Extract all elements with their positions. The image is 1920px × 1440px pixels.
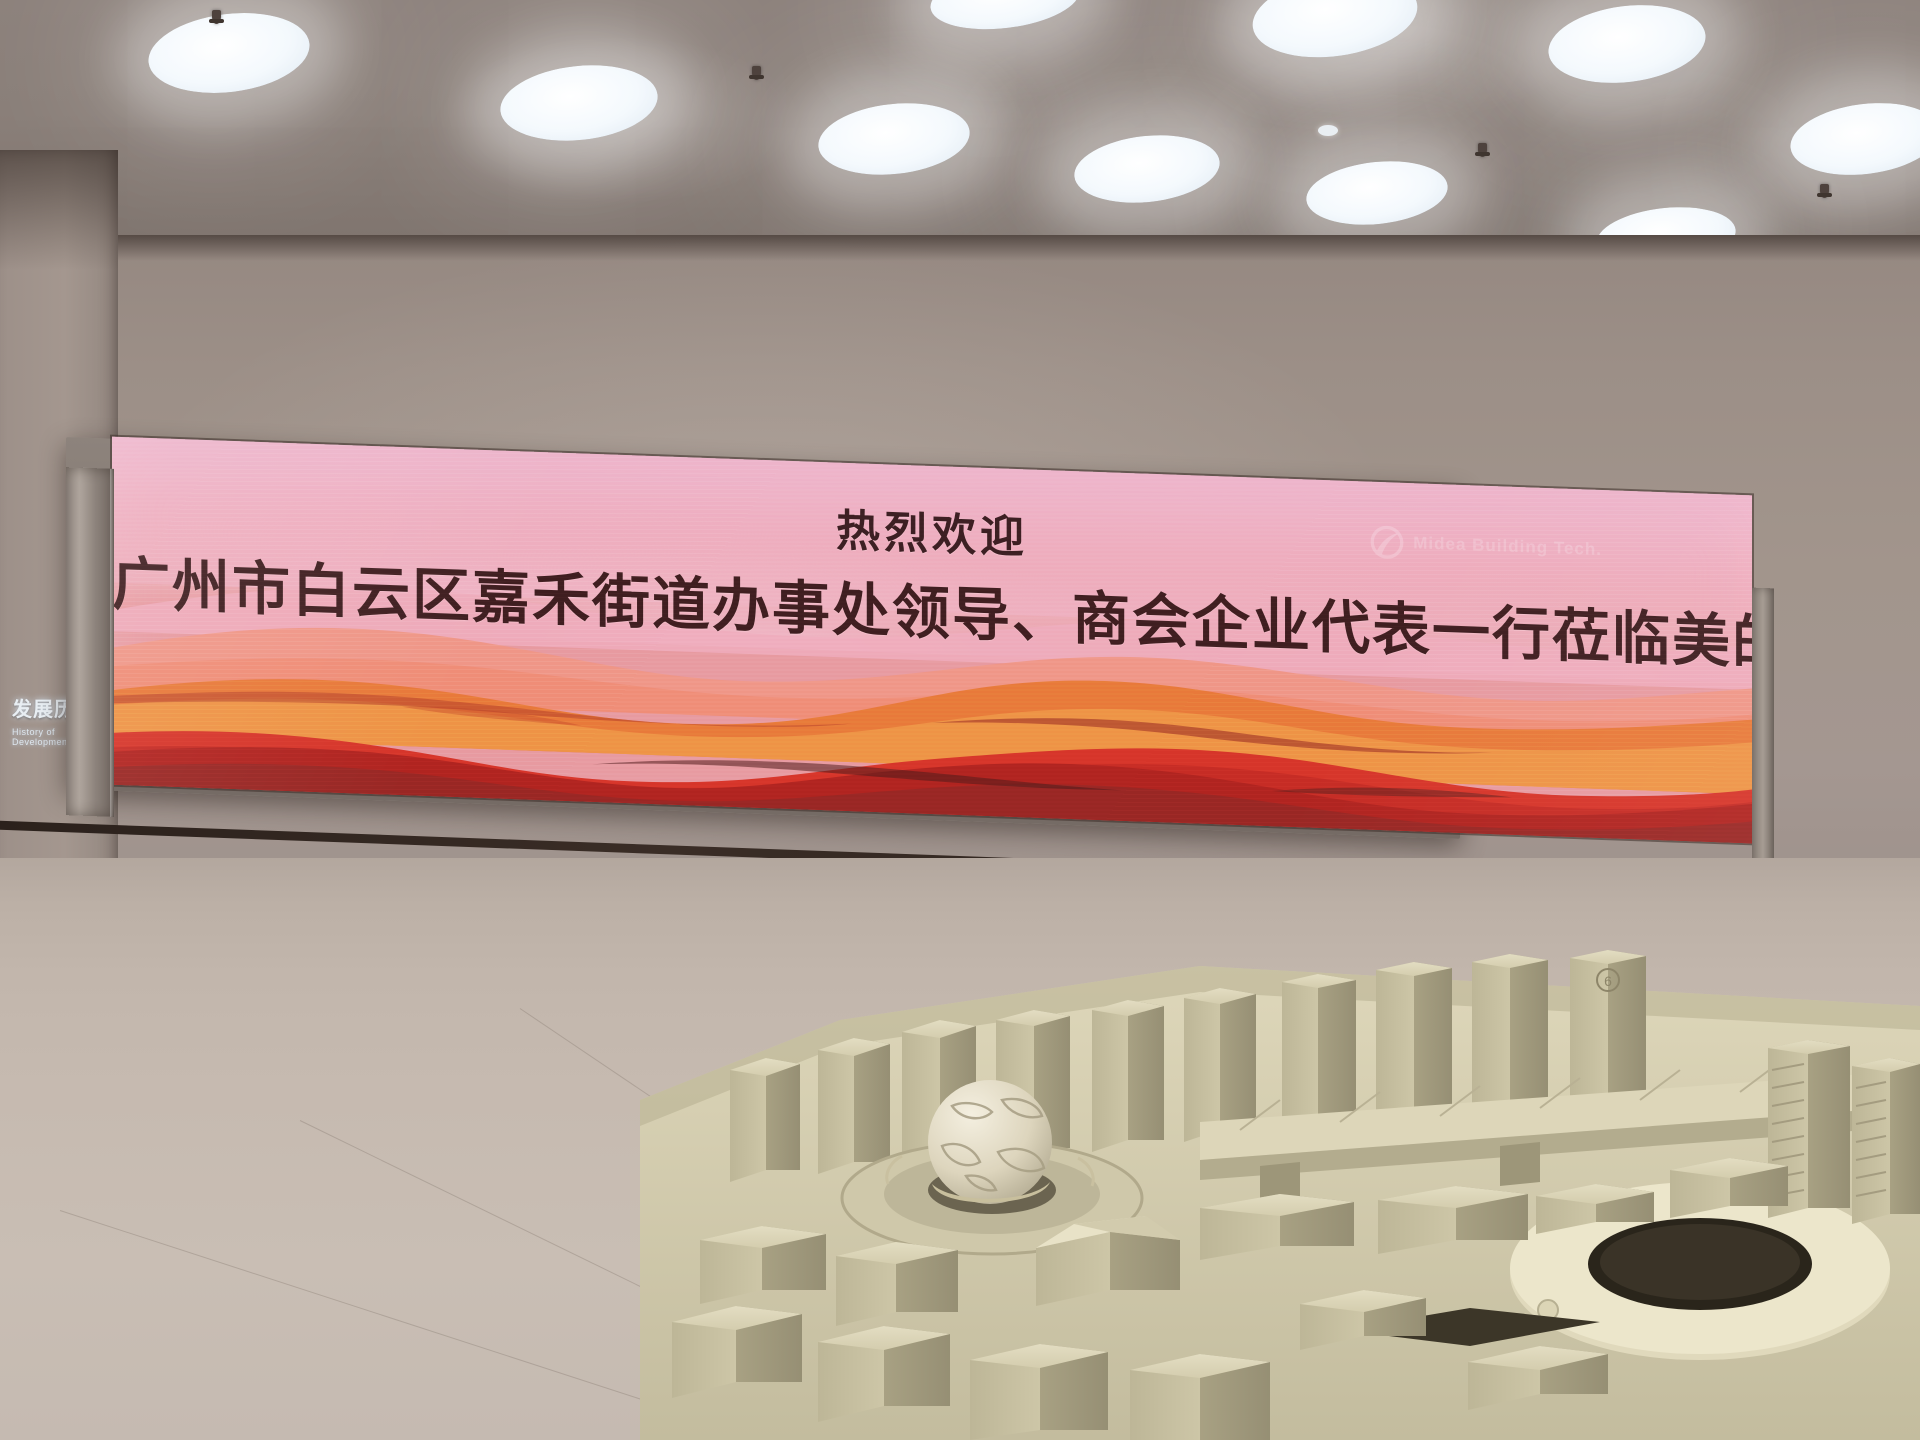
- floor-seam: [60, 1210, 726, 1427]
- ceiling-light: [815, 96, 973, 182]
- sprinkler-head-icon: [1820, 184, 1829, 198]
- ceiling-light: [497, 58, 662, 148]
- ceiling-light: [1786, 95, 1920, 183]
- urban-scale-model[interactable]: 6: [640, 770, 1920, 1440]
- sprinkler-head-icon: [212, 10, 221, 24]
- wall-ceiling-shadow: [0, 235, 1920, 261]
- ceiling-light: [1303, 155, 1451, 232]
- scene-root: 发展历程 History of Development Midea Buildi…: [0, 0, 1920, 1440]
- side-wall-shadow: [0, 150, 118, 270]
- ceiling-light: [1071, 129, 1223, 210]
- ceiling-light: [144, 4, 314, 101]
- model-residential-towers: [1768, 1040, 1920, 1224]
- ceiling-light: [1247, 0, 1423, 67]
- svg-text:6: 6: [1604, 973, 1612, 989]
- smoke-detector-icon: [1318, 125, 1338, 136]
- ceiling-light: [927, 0, 1083, 37]
- sprinkler-head-icon: [752, 66, 761, 80]
- ceiling-light: [1544, 0, 1710, 91]
- sprinkler-head-icon: [1478, 143, 1487, 157]
- ceiling: [0, 0, 1920, 250]
- led-frame-left-pillar: [66, 467, 114, 817]
